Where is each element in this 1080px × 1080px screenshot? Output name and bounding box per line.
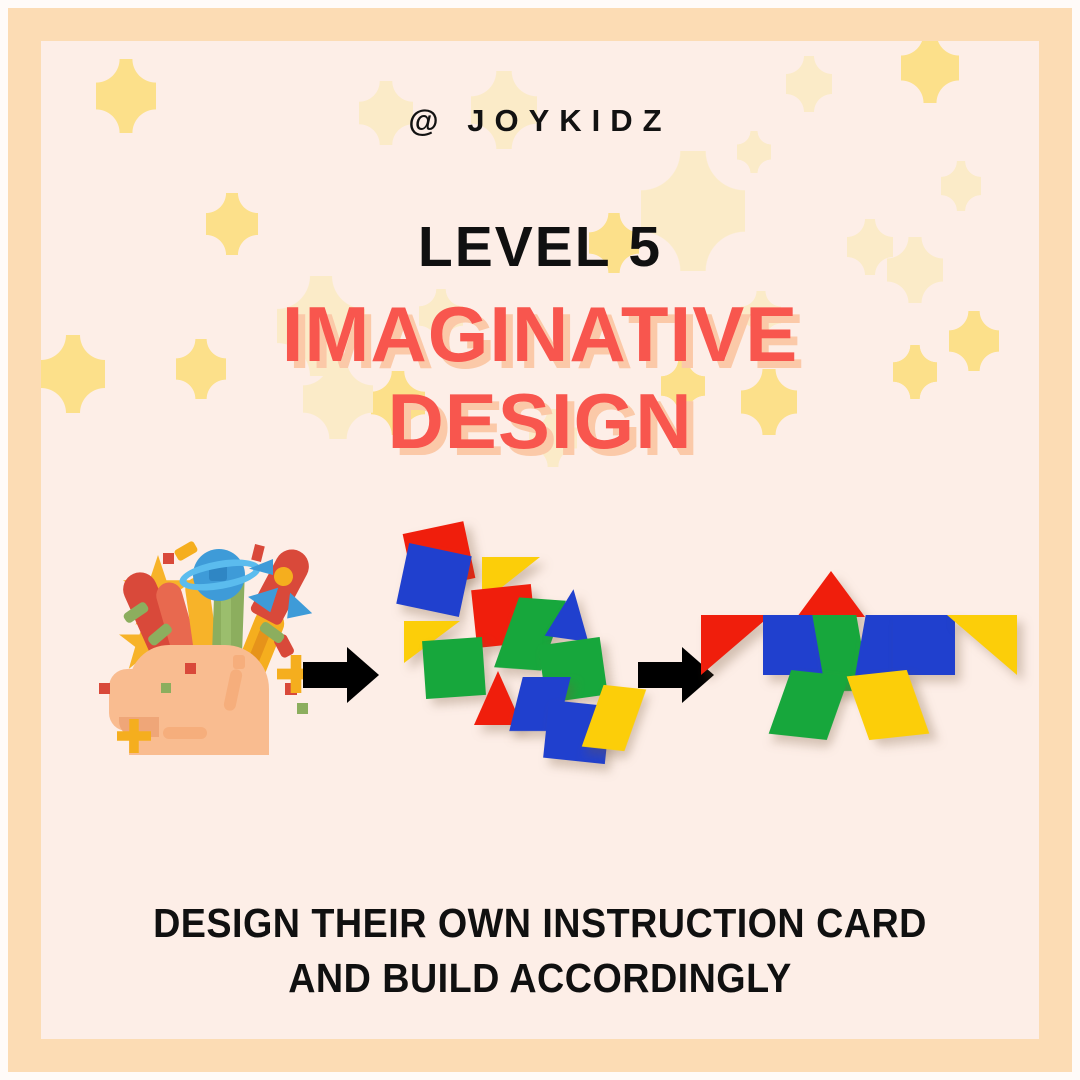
arrow-right-1-icon	[303, 647, 381, 703]
figure-rhombus-green-lower	[769, 670, 850, 740]
figure-triangle-red-top	[797, 571, 865, 617]
head-collar-detail	[163, 727, 207, 739]
poster-canvas: @ JOYKIDZ LEVEL 5 IMAGINATIVE DESIGN DES…	[0, 0, 1080, 1080]
caption-line1: DESIGN THEIR OWN INSTRUCTION CARD	[81, 896, 999, 951]
block-square-blue	[396, 543, 471, 617]
poster-inner: @ JOYKIDZ LEVEL 5 IMAGINATIVE DESIGN DES…	[41, 41, 1039, 1039]
confetti-square	[99, 683, 110, 694]
assembled-figure-illustration	[701, 571, 1001, 741]
figure-rhombus-yellow-lower	[847, 670, 930, 740]
illustration-stage	[41, 471, 1039, 871]
caption: DESIGN THEIR OWN INSTRUCTION CARD AND BU…	[81, 896, 999, 1007]
level-label: LEVEL 5	[41, 214, 1039, 280]
confetti-square	[251, 544, 265, 562]
figure-triangle-red-left	[701, 615, 771, 675]
page-title-line2: DESIGN	[41, 378, 1039, 465]
confetti-square	[185, 663, 196, 674]
sparkle	[941, 161, 981, 211]
scattered-blocks-illustration	[396, 521, 656, 791]
imagination-head-illustration	[101, 531, 331, 761]
confetti-dash	[173, 540, 198, 561]
sparkle	[901, 41, 959, 103]
burst-swoosh-green-highlight	[221, 595, 231, 649]
head-temple-detail	[233, 655, 245, 669]
figure-triangle-yellow-right	[947, 615, 1017, 675]
caption-line2: AND BUILD ACCORDINGLY	[81, 951, 999, 1006]
page-title-line1: IMAGINATIVE	[41, 291, 1039, 378]
page-title: IMAGINATIVE DESIGN	[41, 291, 1039, 466]
confetti-square	[163, 553, 174, 564]
poster-frame: @ JOYKIDZ LEVEL 5 IMAGINATIVE DESIGN DES…	[8, 8, 1072, 1072]
account-handle: @ JOYKIDZ	[41, 103, 1039, 139]
confetti-square	[161, 683, 171, 693]
block-triangle-blue	[548, 589, 592, 633]
figure-square-blue-right	[893, 615, 955, 675]
confetti-square	[297, 703, 308, 714]
